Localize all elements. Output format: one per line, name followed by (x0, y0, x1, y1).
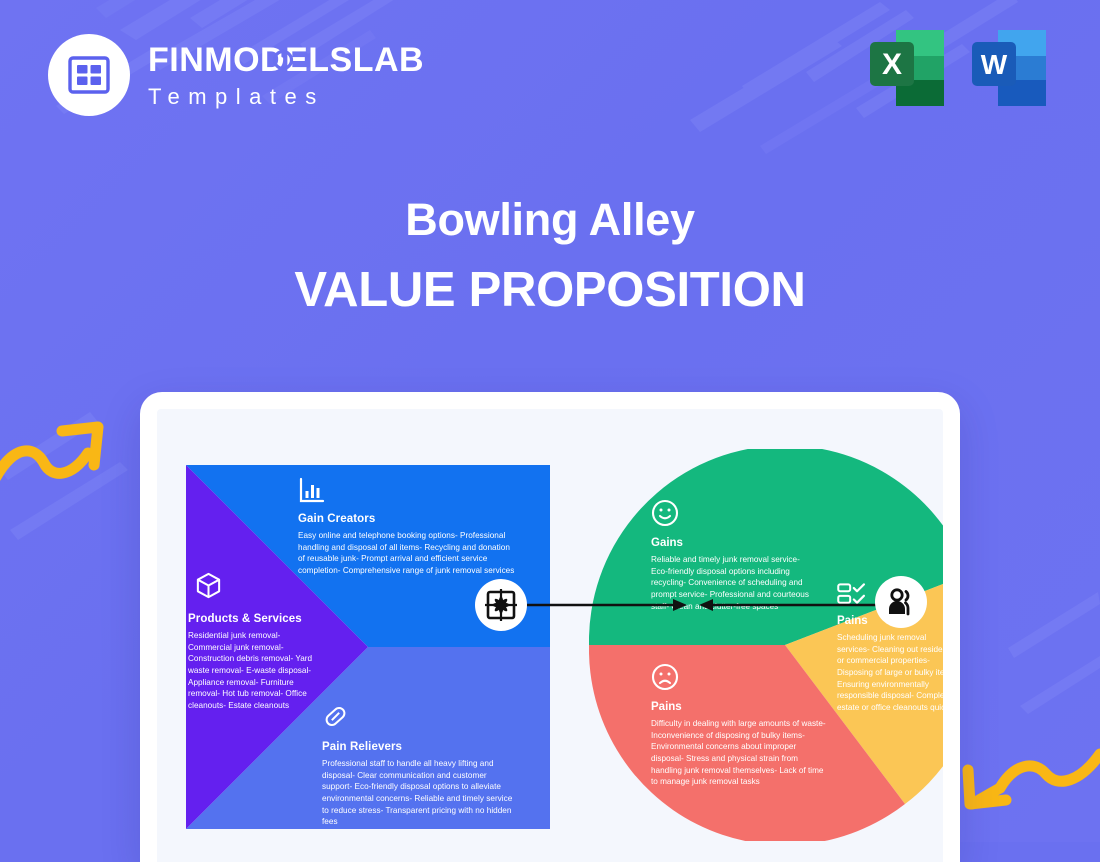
pill-capsule-icon (322, 703, 349, 735)
squiggly-arrow-down-left-icon (954, 748, 1100, 836)
value-map-square: Gain Creators Easy online and telephone … (186, 465, 550, 829)
smiley-face-icon (651, 499, 679, 532)
brand-name: FINMODELSLAB (148, 43, 424, 77)
pain-relievers-title: Pain Relievers (322, 741, 516, 753)
customer-profile-hub[interactable] (875, 576, 927, 628)
pains-block: Pains Difficulty in dealing with large a… (651, 701, 829, 788)
word-icon[interactable]: W (970, 28, 1048, 116)
customer-profile-circle: Gains Reliable and timely junk removal s… (589, 449, 943, 841)
products-services-block: Products & Services Residential junk rem… (188, 613, 320, 711)
gain-creators-title: Gain Creators (298, 513, 516, 525)
brand-subtitle: Templates (148, 86, 424, 108)
gains-title: Gains (651, 537, 811, 549)
page-header: FINMODELSLAB Templates X (0, 0, 1100, 150)
brand-mark (48, 34, 130, 116)
title-block: Bowling Alley VALUE PROPOSITION (0, 193, 1100, 320)
value-map-hub[interactable] (475, 579, 527, 631)
svg-text:X: X (882, 48, 902, 81)
brand-logo[interactable]: FINMODELSLAB Templates (48, 34, 424, 116)
pain-relievers-body: Professional staff to handle all heavy l… (322, 758, 516, 828)
pain-relievers-block: Pain Relievers Professional staff to han… (322, 741, 516, 828)
power-ring-icon (271, 47, 295, 71)
products-services-title: Products & Services (188, 613, 320, 625)
slide-canvas: Gain Creators Easy online and telephone … (157, 409, 943, 862)
pains-title: Pains (651, 701, 829, 713)
pains-jobs-body: Scheduling junk removal services- Cleani… (837, 632, 943, 713)
value-proposition-diagram: Gain Creators Easy online and telephone … (157, 409, 943, 862)
grid-squares-icon (67, 53, 111, 97)
products-services-body: Residential junk removal- Commercial jun… (188, 630, 320, 711)
page-subtitle: VALUE PROPOSITION (0, 262, 1100, 320)
gain-creators-block: Gain Creators Easy online and telephone … (298, 513, 516, 577)
excel-icon[interactable]: X (868, 28, 946, 116)
value-map-icon (484, 588, 518, 622)
connector-double-arrow (497, 569, 897, 639)
sad-face-icon (651, 663, 679, 696)
gain-creators-body: Easy online and telephone booking option… (298, 530, 516, 577)
page-title: Bowling Alley (0, 193, 1100, 246)
pains-body: Difficulty in dealing with large amounts… (651, 718, 829, 788)
box-package-icon (194, 571, 223, 605)
office-format-icons: X W (868, 28, 1048, 116)
bar-chart-icon (298, 477, 325, 509)
customer-profile-icon (884, 585, 918, 619)
squiggly-arrow-up-right-icon (0, 405, 127, 495)
laptop-mockup: Gain Creators Easy online and telephone … (140, 392, 960, 862)
svg-text:W: W (981, 49, 1008, 80)
